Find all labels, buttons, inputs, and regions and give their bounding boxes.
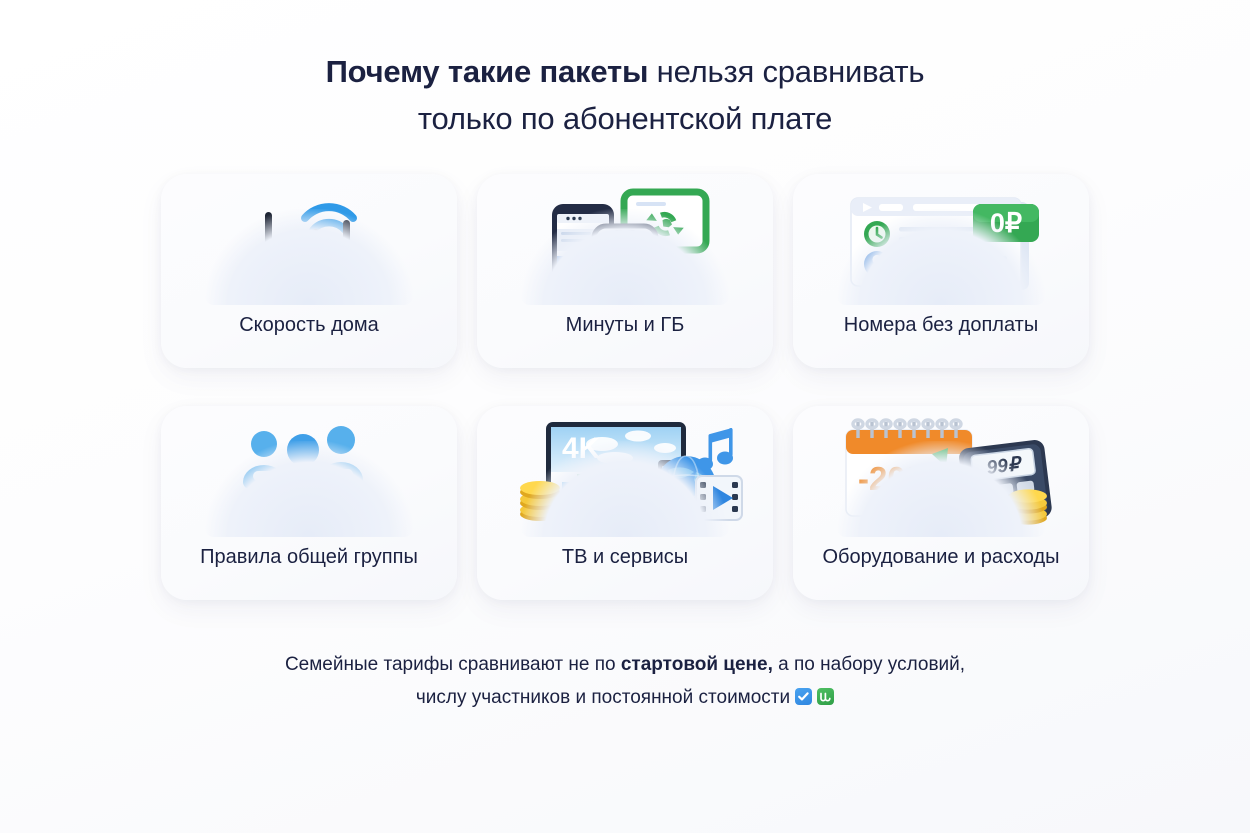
feature-card-equipment[interactable]: -20% 99₽ <box>793 406 1089 600</box>
footer-text-part2: а по набору условий, <box>773 654 965 675</box>
footer-note: Семейные тарифы сравнивают не по стартов… <box>175 648 1075 715</box>
page-title: Почему такие пакеты нельзя сравнивать то… <box>326 52 925 140</box>
title-strong-part: Почему такие пакеты <box>326 54 649 89</box>
title-line-2: только по абонентской плате <box>326 99 925 139</box>
group-network-icon <box>189 414 429 539</box>
title-line-1: Почему такие пакеты нельзя сравнивать <box>326 52 925 92</box>
feature-card-grid: Скорость дома <box>125 174 1125 600</box>
tv-media-icon: 4K <box>505 414 745 539</box>
footer-text-line2: числу участников и постоянной стоимости <box>416 687 790 708</box>
feature-card-speed[interactable]: Скорость дома <box>161 174 457 368</box>
check-badge-icon <box>795 688 812 705</box>
feature-card-label: Правила общей группы <box>188 545 430 571</box>
feature-card-tv[interactable]: 4K <box>477 406 773 600</box>
calendar-calculator-icon: -20% 99₽ <box>821 414 1061 539</box>
currency-badge-icon <box>817 688 834 705</box>
title-light-part: нельзя сравнивать <box>648 54 924 89</box>
feature-card-label: Минуты и ГБ <box>554 313 697 339</box>
feature-card-minutes[interactable]: Минуты и ГБ <box>477 174 773 368</box>
wifi-router-icon <box>189 182 429 307</box>
infographic-page: Почему такие пакеты нельзя сравнивать то… <box>0 0 1250 833</box>
feature-card-label: Скорость дома <box>227 313 391 339</box>
document-zero-price-icon: 0₽ <box>821 182 1061 307</box>
feature-card-label: Оборудование и расходы <box>810 545 1071 571</box>
footer-text-bold: стартовой цене, <box>621 654 773 675</box>
footer-line-2: числу участников и постоянной стоимости <box>175 681 1075 714</box>
footer-line-1: Семейные тарифы сравнивают не по стартов… <box>175 648 1075 681</box>
feature-card-label: ТВ и сервисы <box>550 545 700 571</box>
footer-text-part1: Семейные тарифы сравнивают не по <box>285 654 621 675</box>
phones-call-icon <box>505 182 745 307</box>
feature-card-group[interactable]: Правила общей группы <box>161 406 457 600</box>
feature-card-label: Номера без доплаты <box>832 313 1050 339</box>
feature-card-numbers[interactable]: 0₽ Номера без доплаты <box>793 174 1089 368</box>
